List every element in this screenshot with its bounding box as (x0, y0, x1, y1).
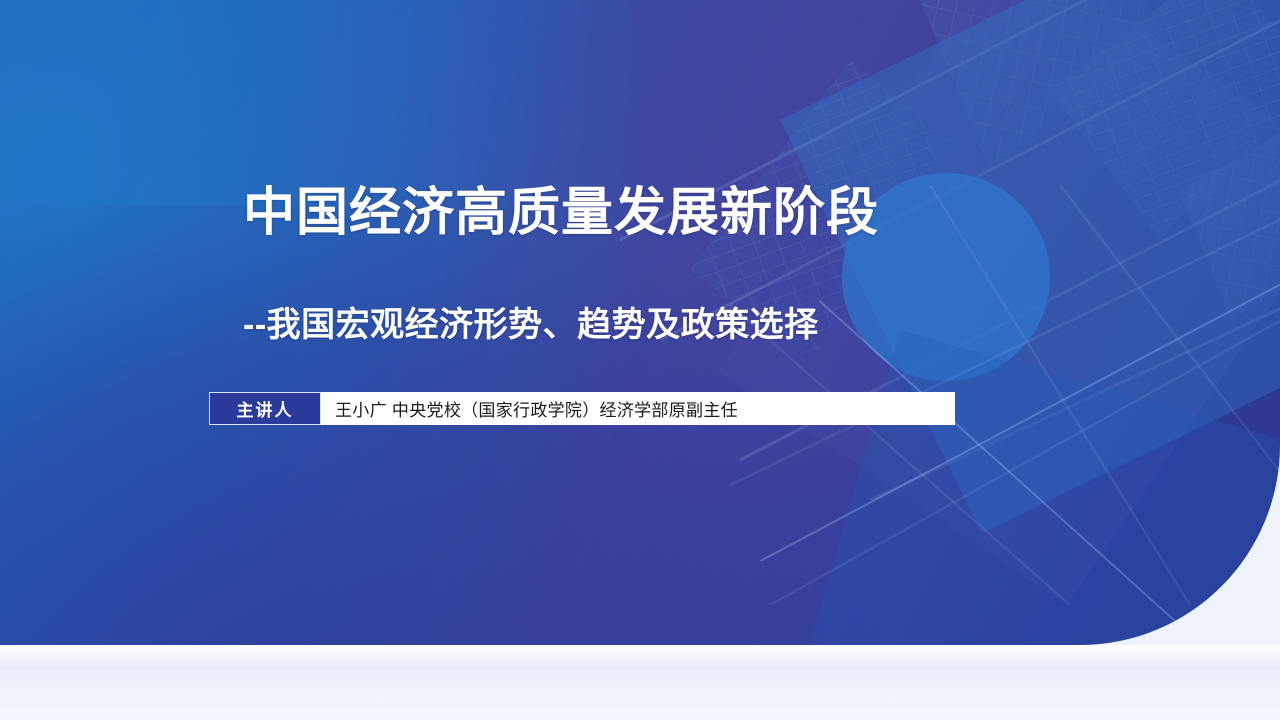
page-background-below-slide (0, 645, 1280, 720)
title-slide: 中国经济高质量发展新阶段 --我国宏观经济形势、趋势及政策选择 主讲人 王小广 … (0, 0, 1280, 645)
page-subtitle: --我国宏观经济形势、趋势及政策选择 (243, 303, 819, 347)
page-title: 中国经济高质量发展新阶段 (243, 182, 879, 244)
speaker-label: 主讲人 (209, 392, 321, 425)
speaker-bar: 主讲人 王小广 中央党校（国家行政学院）经济学部原副主任 (209, 392, 955, 425)
speaker-name-and-title: 王小广 中央党校（国家行政学院）经济学部原副主任 (321, 392, 955, 425)
slide-bottom-seam (0, 645, 1280, 648)
slide-stage: 中国经济高质量发展新阶段 --我国宏观经济形势、趋势及政策选择 主讲人 王小广 … (0, 0, 1280, 720)
